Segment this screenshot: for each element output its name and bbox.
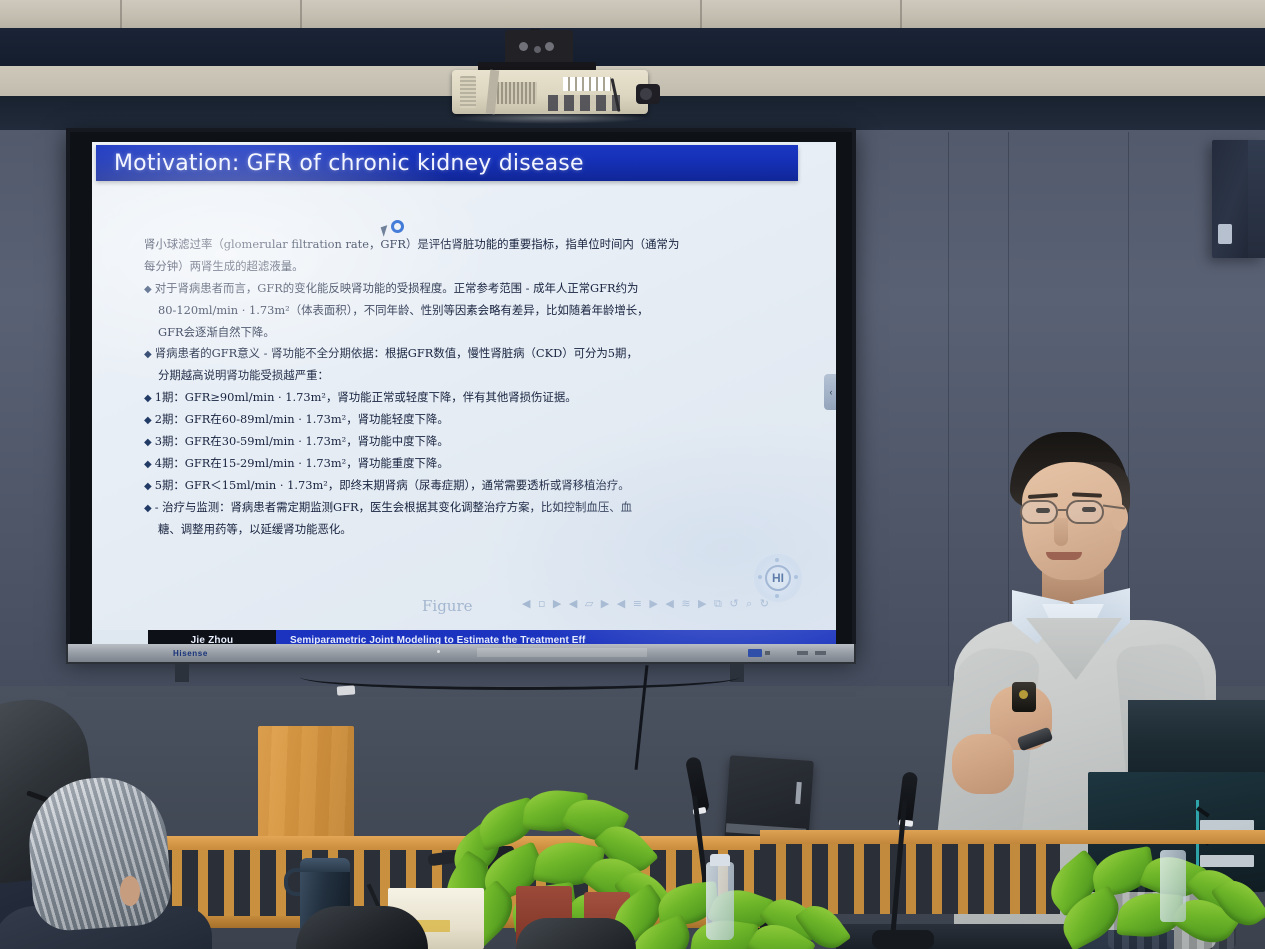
slide-bullet-stage-3-text: 3期：GFR在30-59ml/min · 1.73m²，肾功能中度下降。 xyxy=(155,434,449,448)
slide-bullet-stage-4-text: 4期：GFR在15-29ml/min · 1.73m²，肾功能重度下降。 xyxy=(155,456,449,470)
figure-label: Figure xyxy=(422,597,473,615)
water-bottle-cap xyxy=(710,854,730,866)
projector-highlight xyxy=(450,112,650,124)
microphone-base xyxy=(872,930,934,949)
slide-bullet-stage-2-text: 2期：GFR在60-89ml/min · 1.73m²，肾功能轻度下降。 xyxy=(155,412,449,426)
display-bezel: Hisense xyxy=(66,644,856,664)
mouse-cursor-busy-icon xyxy=(382,220,408,246)
audience-ear xyxy=(120,876,140,906)
thermos-cap xyxy=(300,858,350,872)
bullet-glyph-icon: ◆ xyxy=(144,481,152,492)
slide-bullet-stage-3: ◆3期：GFR在30-59ml/min · 1.73m²，肾功能中度下降。 xyxy=(144,431,784,453)
bezel-power-icon[interactable] xyxy=(748,649,762,657)
ceiling-seam xyxy=(300,0,302,30)
audience-member-right xyxy=(516,918,636,949)
slide-bullet-treatment: ◆- 治疗与监测：肾病患者需定期监测GFR，医生会根据其变化调整治疗方案，比如控… xyxy=(144,497,784,519)
audio-mixer xyxy=(1128,700,1265,774)
speaker-driver-icon xyxy=(1218,224,1232,244)
bezel-sensor-icon xyxy=(437,650,440,653)
projector-ports xyxy=(548,95,620,111)
slide-title-bar: Motivation: GFR of chronic kidney diseas… xyxy=(96,145,798,181)
podium-wood-grain xyxy=(258,726,354,839)
bezel-ir-icon xyxy=(797,651,808,655)
bullet-glyph-icon: ◆ xyxy=(144,459,152,470)
conference-room-scene: Motivation: GFR of chronic kidney diseas… xyxy=(0,0,1265,949)
slide-bullet-2: ◆肾病患者的GFR意义 - 肾功能不全分期依据：根据GFR数值，慢性肾脏病（CK… xyxy=(144,343,784,365)
slide-bullet-stage-1: ◆1期：GFR≥90ml/min · 1.73m²，肾功能正常或轻度下降，伴有其… xyxy=(144,387,784,409)
bullet-glyph-icon: ◆ xyxy=(144,415,152,426)
slide-bullet-2-line-1: 肾病患者的GFR意义 - 肾功能不全分期依据：根据GFR数值，慢性肾脏病（CKD… xyxy=(155,346,638,360)
bullet-glyph-icon: ◆ xyxy=(144,503,152,514)
projector-lens-icon xyxy=(636,84,660,104)
presenter-nose xyxy=(1054,518,1068,546)
bezel-strip xyxy=(477,648,647,657)
slide-bullet-1-line-1: 对于肾病患者而言，GFR的变化能反映肾功能的受损程度。正常参考范围 - 成年人正… xyxy=(155,281,639,295)
slide-bullet-stage-5: ◆5期：GFR＜15ml/min · 1.73m²，即终末期肾病（尿毒症期），通… xyxy=(144,475,784,497)
presenter-mouth xyxy=(1046,552,1082,560)
slide-bullet-1-line-3: GFR会逐渐自然下降。 xyxy=(144,322,784,344)
slide-canvas[interactable]: Motivation: GFR of chronic kidney diseas… xyxy=(92,142,836,650)
ceiling xyxy=(0,0,1265,30)
slide-body: 肾小球滤过率（glomerular filtration rate，GFR）是评… xyxy=(144,234,784,540)
bullet-glyph-icon: ◆ xyxy=(144,349,152,360)
presentation-display[interactable]: Motivation: GFR of chronic kidney diseas… xyxy=(66,128,856,658)
cable-clip xyxy=(337,685,356,695)
bullet-glyph-icon: ◆ xyxy=(144,393,152,404)
ceiling-beam-upper xyxy=(0,28,1265,68)
chevron-left-icon[interactable]: ‹ xyxy=(824,374,836,410)
wall-speaker xyxy=(1212,140,1265,258)
potted-plant-right xyxy=(1040,845,1265,949)
ceiling-seam xyxy=(900,0,902,30)
wooden-rail-top-right xyxy=(760,830,1265,844)
slide-bullet-treatment-line-2: 糖、调整用药等，以延缓肾功能恶化。 xyxy=(144,519,784,541)
bezel-indicator-icon xyxy=(765,651,770,655)
slide-bullet-treatment-line-1: - 治疗与监测：肾病患者需定期监测GFR，医生会根据其变化调整治疗方案，比如控制… xyxy=(155,500,632,514)
slide-bullet-stage-5-text: 5期：GFR＜15ml/min · 1.73m²，即终末期肾病（尿毒症期），通常… xyxy=(155,478,630,492)
display-cable xyxy=(300,664,740,690)
water-bottle-right xyxy=(1160,850,1186,922)
ceiling-seam xyxy=(120,0,122,30)
slide-bullet-1: ◆对于肾病患者而言，GFR的变化能反映肾功能的受损程度。正常参考范围 - 成年人… xyxy=(144,278,784,300)
slide-bullet-2-line-2: 分期越高说明肾功能受损越严重： xyxy=(144,365,784,387)
presenter-left-hand xyxy=(952,734,1014,794)
presentation-clicker[interactable] xyxy=(1012,682,1036,712)
hisense-widget-label: HI xyxy=(765,565,791,591)
slide-bullet-stage-2: ◆2期：GFR在60-89ml/min · 1.73m²，肾功能轻度下降。 xyxy=(144,409,784,431)
glasses-icon xyxy=(1018,500,1126,524)
projector-mount-screw xyxy=(534,46,541,53)
slide-bullet-stage-1-text: 1期：GFR≥90ml/min · 1.73m²，肾功能正常或轻度下降，伴有其他… xyxy=(155,390,577,404)
slide-paragraph-intro-line-2: 每分钟）两肾生成的超滤液量。 xyxy=(144,256,784,278)
beamer-navigation-icons[interactable]: ◀ ▫ ▶ ◀ ▱ ▶ ◀ ≡ ▶ ◀ ≋ ▶ ⧉ ↺ ⌕ ↻ xyxy=(522,597,771,611)
slide-bullet-stage-4: ◆4期：GFR在15-29ml/min · 1.73m²，肾功能重度下降。 xyxy=(144,453,784,475)
ceiling-seam xyxy=(700,0,702,30)
slide-bullet-1-line-2: 80-120ml/min · 1.73m²（体表面积），不同年龄、性别等因素会略… xyxy=(144,300,784,322)
slide-title: Motivation: GFR of chronic kidney diseas… xyxy=(114,151,584,176)
hisense-brand-logo: Hisense xyxy=(173,649,208,658)
audience-member-center xyxy=(296,906,428,949)
projector-vent-icon xyxy=(460,76,476,108)
bullet-glyph-icon: ◆ xyxy=(144,437,152,448)
bezel-ir-icon xyxy=(815,651,826,655)
bullet-glyph-icon: ◆ xyxy=(144,284,152,295)
projector-panel xyxy=(493,82,537,104)
projector-grill xyxy=(563,77,611,91)
display-stand-left xyxy=(175,664,189,682)
water-bottle xyxy=(706,862,734,940)
slide-paragraph-intro-line-1: 肾小球滤过率（glomerular filtration rate，GFR）是评… xyxy=(144,234,784,256)
speaker-face xyxy=(1248,140,1265,258)
hisense-control-widget[interactable]: HI xyxy=(754,554,802,602)
